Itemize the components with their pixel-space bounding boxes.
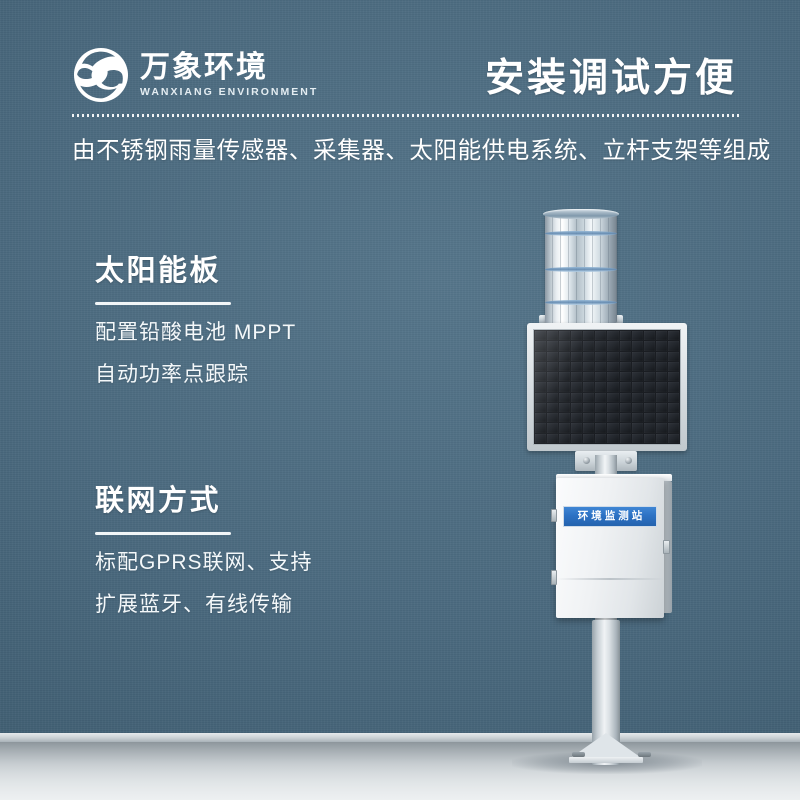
header-dotted-divider	[72, 114, 740, 117]
solar-cell	[571, 341, 582, 350]
solar-cell	[644, 341, 655, 350]
solar-cell	[656, 372, 667, 381]
solar-cell	[583, 341, 594, 350]
solar-cell	[607, 434, 618, 443]
solar-cell	[535, 434, 546, 443]
solar-cell	[547, 352, 558, 361]
solar-cell	[571, 403, 582, 412]
solar-cell	[644, 423, 655, 432]
solar-cell	[644, 362, 655, 371]
solar-cell	[620, 341, 631, 350]
solar-cell	[559, 372, 570, 381]
solar-cell	[535, 382, 546, 391]
solar-cell	[571, 362, 582, 371]
solar-cell	[620, 423, 631, 432]
solar-cell	[620, 403, 631, 412]
rain-gauge-funnel-rim	[543, 209, 619, 219]
feature-line: 扩展蓝牙、有线传输	[95, 594, 313, 615]
solar-cell	[656, 331, 667, 340]
base-anchor-bolt	[638, 752, 651, 757]
solar-cell	[668, 382, 679, 391]
solar-cell	[668, 341, 679, 350]
solar-cell	[583, 362, 594, 371]
solar-cell	[535, 413, 546, 422]
solar-cell	[583, 372, 594, 381]
solar-cell	[656, 423, 667, 432]
solar-cell	[668, 372, 679, 381]
solar-cell	[644, 413, 655, 422]
headline-title: 安装调试方便	[485, 47, 737, 103]
solar-cell	[668, 413, 679, 422]
solar-cell	[583, 393, 594, 402]
solar-cell	[535, 403, 546, 412]
feature-block-solar-panel: 太阳能板 配置铅酸电池 MPPT 自动功率点跟踪	[95, 255, 296, 385]
solar-cell	[583, 413, 594, 422]
solar-cell	[632, 434, 643, 443]
solar-cell	[656, 403, 667, 412]
solar-cell	[559, 413, 570, 422]
bracket-bolt	[625, 457, 632, 464]
solar-cell	[559, 382, 570, 391]
base-anchor-bolt	[572, 752, 585, 757]
solar-cell	[632, 403, 643, 412]
bracket-bolt	[583, 457, 590, 464]
solar-cell	[632, 423, 643, 432]
solar-cell	[595, 352, 606, 361]
control-box	[556, 478, 664, 618]
solar-cell	[571, 372, 582, 381]
control-box-door-seam	[556, 578, 664, 580]
solar-cell	[620, 413, 631, 422]
solar-cell	[607, 403, 618, 412]
solar-cell	[632, 393, 643, 402]
solar-cell	[547, 341, 558, 350]
solar-cell	[595, 382, 606, 391]
solar-cell	[620, 331, 631, 340]
solar-cell	[632, 372, 643, 381]
solar-cell	[547, 382, 558, 391]
solar-cell	[632, 362, 643, 371]
solar-cell	[595, 403, 606, 412]
solar-cell	[547, 434, 558, 443]
control-box-hinge	[551, 570, 557, 585]
solar-cell	[644, 331, 655, 340]
solar-cell	[595, 331, 606, 340]
solar-cell	[571, 382, 582, 391]
feature-title: 联网方式	[95, 485, 313, 518]
solar-cell	[620, 434, 631, 443]
control-box-nameplate: 环境监测站	[563, 506, 657, 527]
logo-chinese-name: 万象环境	[140, 52, 318, 84]
rain-gauge-band	[545, 231, 617, 236]
solar-cell	[535, 393, 546, 402]
solar-cell	[559, 362, 570, 371]
feature-block-network: 联网方式 标配GPRS联网、支持 扩展蓝牙、有线传输	[95, 485, 313, 615]
solar-cell	[644, 352, 655, 361]
solar-cell	[668, 423, 679, 432]
solar-cell	[547, 423, 558, 432]
solar-cell	[571, 331, 582, 340]
solar-panel-cell-grid	[533, 329, 681, 445]
solar-cell	[583, 331, 594, 340]
solar-cell	[535, 362, 546, 371]
solar-cell	[547, 393, 558, 402]
solar-cell	[559, 423, 570, 432]
solar-cell	[668, 403, 679, 412]
solar-cell	[571, 434, 582, 443]
control-box-hinge	[551, 509, 557, 522]
solar-cell	[595, 362, 606, 371]
solar-cell	[571, 423, 582, 432]
solar-cell	[668, 362, 679, 371]
solar-cell	[595, 413, 606, 422]
solar-cell	[668, 434, 679, 443]
solar-cell	[668, 331, 679, 340]
product-banner: 万象环境 WANXIANG ENVIRONMENT 安装调试方便 由不锈钢雨量传…	[0, 0, 800, 800]
solar-cell	[656, 341, 667, 350]
solar-cell	[620, 372, 631, 381]
solar-cell	[547, 372, 558, 381]
solar-cell	[547, 413, 558, 422]
feature-line: 配置铅酸电池 MPPT	[95, 322, 296, 343]
solar-panel	[527, 323, 687, 451]
logo-english-name: WANXIANG ENVIRONMENT	[140, 86, 318, 98]
solar-cell	[644, 403, 655, 412]
solar-cell	[607, 372, 618, 381]
solar-cell	[571, 393, 582, 402]
solar-cell	[632, 382, 643, 391]
solar-cell	[632, 341, 643, 350]
feature-title: 太阳能板	[95, 255, 296, 288]
solar-cell	[656, 434, 667, 443]
solar-cell	[607, 362, 618, 371]
solar-cell	[656, 413, 667, 422]
solar-cell	[547, 331, 558, 340]
solar-cell	[595, 341, 606, 350]
solar-cell	[644, 434, 655, 443]
feature-divider	[95, 532, 231, 535]
solar-cell	[535, 423, 546, 432]
solar-cell	[571, 413, 582, 422]
solar-cell	[620, 382, 631, 391]
header-subtitle: 由不锈钢雨量传感器、采集器、太阳能供电系统、立杆支架等组成	[72, 131, 752, 165]
solar-cell	[559, 434, 570, 443]
solar-cell	[559, 331, 570, 340]
solar-cell	[656, 382, 667, 391]
solar-cell	[535, 352, 546, 361]
solar-cell	[644, 382, 655, 391]
solar-cell	[595, 372, 606, 381]
solar-cell	[620, 362, 631, 371]
solar-cell	[607, 341, 618, 350]
solar-cell	[535, 341, 546, 350]
solar-cell	[632, 413, 643, 422]
solar-cell	[583, 423, 594, 432]
rain-gauge-band	[545, 267, 617, 272]
solar-cell	[607, 331, 618, 340]
solar-cell	[583, 403, 594, 412]
solar-cell	[595, 423, 606, 432]
solar-cell	[571, 352, 582, 361]
feature-line: 自动功率点跟踪	[95, 364, 296, 385]
brand-logo: 万象环境 WANXIANG ENVIRONMENT	[72, 46, 318, 104]
solar-cell	[632, 331, 643, 340]
weather-station-device: 环境监测站	[0, 0, 800, 800]
solar-cell	[583, 382, 594, 391]
solar-cell	[535, 331, 546, 340]
rain-gauge-band	[545, 300, 617, 305]
solar-cell	[559, 403, 570, 412]
solar-cell	[656, 393, 667, 402]
solar-cell	[595, 393, 606, 402]
solar-cell	[559, 341, 570, 350]
solar-cell	[620, 393, 631, 402]
solar-cell	[607, 413, 618, 422]
solar-cell	[644, 372, 655, 381]
solar-cell	[559, 352, 570, 361]
solar-cell	[607, 382, 618, 391]
solar-cell	[547, 403, 558, 412]
wanxiang-swirl-logo-icon	[72, 46, 130, 104]
feature-divider	[95, 302, 231, 305]
solar-cell	[632, 352, 643, 361]
feature-line: 标配GPRS联网、支持	[95, 552, 313, 573]
solar-cell	[607, 423, 618, 432]
solar-cell	[656, 362, 667, 371]
solar-cell	[656, 352, 667, 361]
solar-cell	[620, 352, 631, 361]
solar-cell	[559, 393, 570, 402]
solar-cell	[644, 393, 655, 402]
control-box-latch	[663, 540, 670, 554]
solar-cell	[547, 362, 558, 371]
solar-cell	[607, 352, 618, 361]
solar-cell	[583, 352, 594, 361]
solar-cell	[607, 393, 618, 402]
solar-cell	[583, 434, 594, 443]
solar-cell	[668, 393, 679, 402]
solar-cell	[668, 352, 679, 361]
control-box-label-text: 环境监测站	[575, 511, 646, 522]
solar-cell	[595, 434, 606, 443]
solar-cell	[535, 372, 546, 381]
